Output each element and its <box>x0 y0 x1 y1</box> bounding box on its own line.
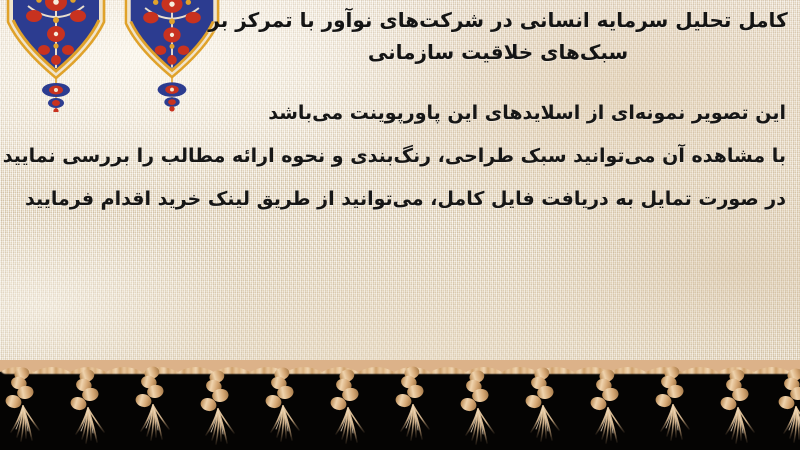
tassel <box>719 368 754 443</box>
slide-title-line-2: سبک‌های خلاقیت سازمانی <box>208 36 788 68</box>
tassel <box>524 366 559 441</box>
carpet-fringe-band <box>0 360 800 450</box>
tassel <box>4 366 39 441</box>
tassel <box>589 368 624 443</box>
fringe-selvedge-rope <box>0 360 800 372</box>
tassel <box>199 369 234 444</box>
tassel <box>264 366 299 441</box>
tassel <box>329 368 364 443</box>
powerpoint-slide-preview: کامل تحلیل سرمایه انسانی در شرکت‌های نوآ… <box>0 0 800 450</box>
tassel <box>654 365 689 440</box>
body-line-2: با مشاهده آن می‌توانید سبک طراحی، رنگ‌بن… <box>8 147 786 166</box>
tassel <box>394 365 429 440</box>
body-line-1: این تصویر نمونه‌ای از اسلایدهای این پاور… <box>8 104 786 123</box>
slide-body-text: این تصویر نمونه‌ای از اسلایدهای این پاور… <box>8 104 786 209</box>
tassel <box>459 369 494 444</box>
slide-title: کامل تحلیل سرمایه انسانی در شرکت‌های نوآ… <box>208 4 788 69</box>
carpet-tassel-row <box>0 360 800 450</box>
tassel <box>777 367 800 442</box>
tassel <box>134 365 169 440</box>
body-line-3: در صورت تمایل به دریافت فایل کامل، می‌تو… <box>8 190 786 209</box>
tassel <box>69 368 104 443</box>
slide-title-line-1: کامل تحلیل سرمایه انسانی در شرکت‌های نوآ… <box>208 4 788 36</box>
